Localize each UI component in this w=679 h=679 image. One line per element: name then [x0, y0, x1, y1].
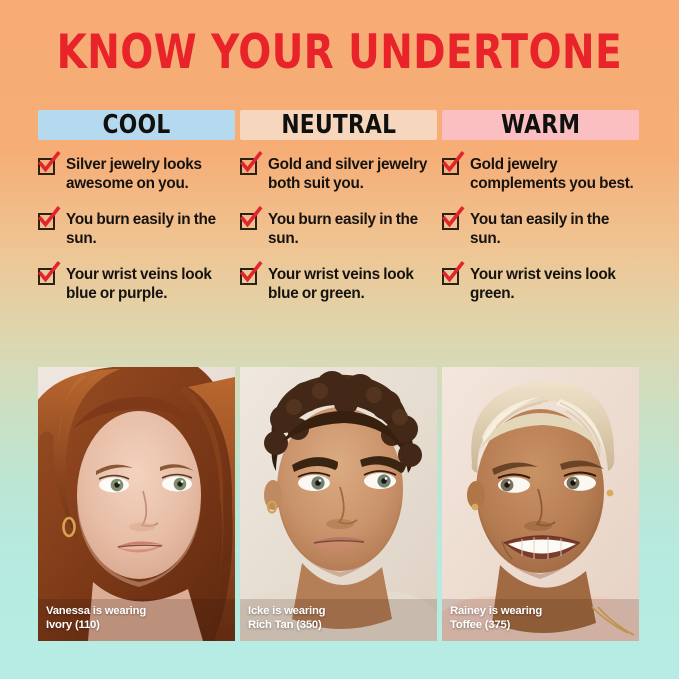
model-portrait-rainey	[442, 367, 639, 641]
undertone-columns: COOL Silver jewelry looks awesome on you…	[38, 110, 641, 303]
checklist-warm: Gold jewelry complements you best. You t…	[442, 156, 639, 303]
page-title: KNOW YOUR UNDERTONE	[57, 28, 623, 78]
check-item-label: Silver jewelry looks awesome on you.	[66, 156, 235, 193]
photo-caption: Rainey is wearing Toffee (375)	[450, 605, 542, 632]
column-header-neutral: NEUTRAL	[240, 110, 437, 140]
checkmark-icon	[240, 267, 259, 286]
caption-line-2: Toffee (375)	[450, 619, 542, 632]
caption-line-2: Ivory (110)	[46, 619, 146, 632]
column-header-label: NEUTRAL	[281, 112, 396, 138]
checkmark-icon	[442, 212, 461, 231]
checklist-neutral: Gold and silver jewelry both suit you. Y…	[240, 156, 437, 303]
checklist-cool: Silver jewelry looks awesome on you. You…	[38, 156, 235, 303]
checkmark-icon	[38, 212, 57, 231]
check-item[interactable]: Your wrist veins look green.	[442, 266, 639, 303]
checkmark-icon	[442, 267, 461, 286]
check-item[interactable]: You burn easily in the sun.	[240, 211, 437, 248]
check-item-label: Your wrist veins look blue or green.	[268, 266, 437, 303]
check-item[interactable]: Gold and silver jewelry both suit you.	[240, 156, 437, 193]
check-item[interactable]: Your wrist veins look blue or green.	[240, 266, 437, 303]
photo-caption: Icke is wearing Rich Tan (350)	[248, 605, 325, 632]
column-header-label: COOL	[103, 112, 171, 138]
model-photo-neutral: Icke is wearing Rich Tan (350)	[240, 367, 437, 641]
check-item-label: Gold jewelry complements you best.	[470, 156, 639, 193]
column-header-warm: WARM	[442, 110, 639, 140]
check-item[interactable]: Silver jewelry looks awesome on you.	[38, 156, 235, 193]
check-item-label: Your wrist veins look green.	[470, 266, 639, 303]
model-photo-row: Vanessa is wearing Ivory (110)	[38, 367, 641, 641]
column-warm: WARM Gold jewelry complements you best. …	[442, 110, 639, 303]
caption-line-1: Rainey is wearing	[450, 605, 542, 618]
model-photo-cool: Vanessa is wearing Ivory (110)	[38, 367, 235, 641]
check-item[interactable]: You burn easily in the sun.	[38, 211, 235, 248]
photo-caption: Vanessa is wearing Ivory (110)	[46, 605, 146, 632]
column-header-label: WARM	[501, 112, 580, 138]
check-item-label: You tan easily in the sun.	[470, 211, 639, 248]
model-portrait-vanessa	[38, 367, 235, 641]
title-container: KNOW YOUR UNDERTONE	[0, 28, 679, 78]
check-item[interactable]: You tan easily in the sun.	[442, 211, 639, 248]
column-header-cool: COOL	[38, 110, 235, 140]
checkmark-icon	[240, 157, 259, 176]
column-cool: COOL Silver jewelry looks awesome on you…	[38, 110, 235, 303]
check-item[interactable]: Gold jewelry complements you best.	[442, 156, 639, 193]
check-item-label: You burn easily in the sun.	[268, 211, 437, 248]
caption-line-1: Vanessa is wearing	[46, 605, 146, 618]
checkmark-icon	[38, 157, 57, 176]
check-item-label: Gold and silver jewelry both suit you.	[268, 156, 437, 193]
caption-line-2: Rich Tan (350)	[248, 619, 325, 632]
model-photo-warm: Rainey is wearing Toffee (375)	[442, 367, 639, 641]
column-neutral: NEUTRAL Gold and silver jewelry both sui…	[240, 110, 437, 303]
check-item-label: Your wrist veins look blue or purple.	[66, 266, 235, 303]
check-item-label: You burn easily in the sun.	[66, 211, 235, 248]
checkmark-icon	[38, 267, 57, 286]
checkmark-icon	[442, 157, 461, 176]
caption-line-1: Icke is wearing	[248, 605, 325, 618]
checkmark-icon	[240, 212, 259, 231]
undertone-infographic: KNOW YOUR UNDERTONE COOL Silver jewelry …	[0, 0, 679, 679]
model-portrait-icke	[240, 367, 437, 641]
check-item[interactable]: Your wrist veins look blue or purple.	[38, 266, 235, 303]
